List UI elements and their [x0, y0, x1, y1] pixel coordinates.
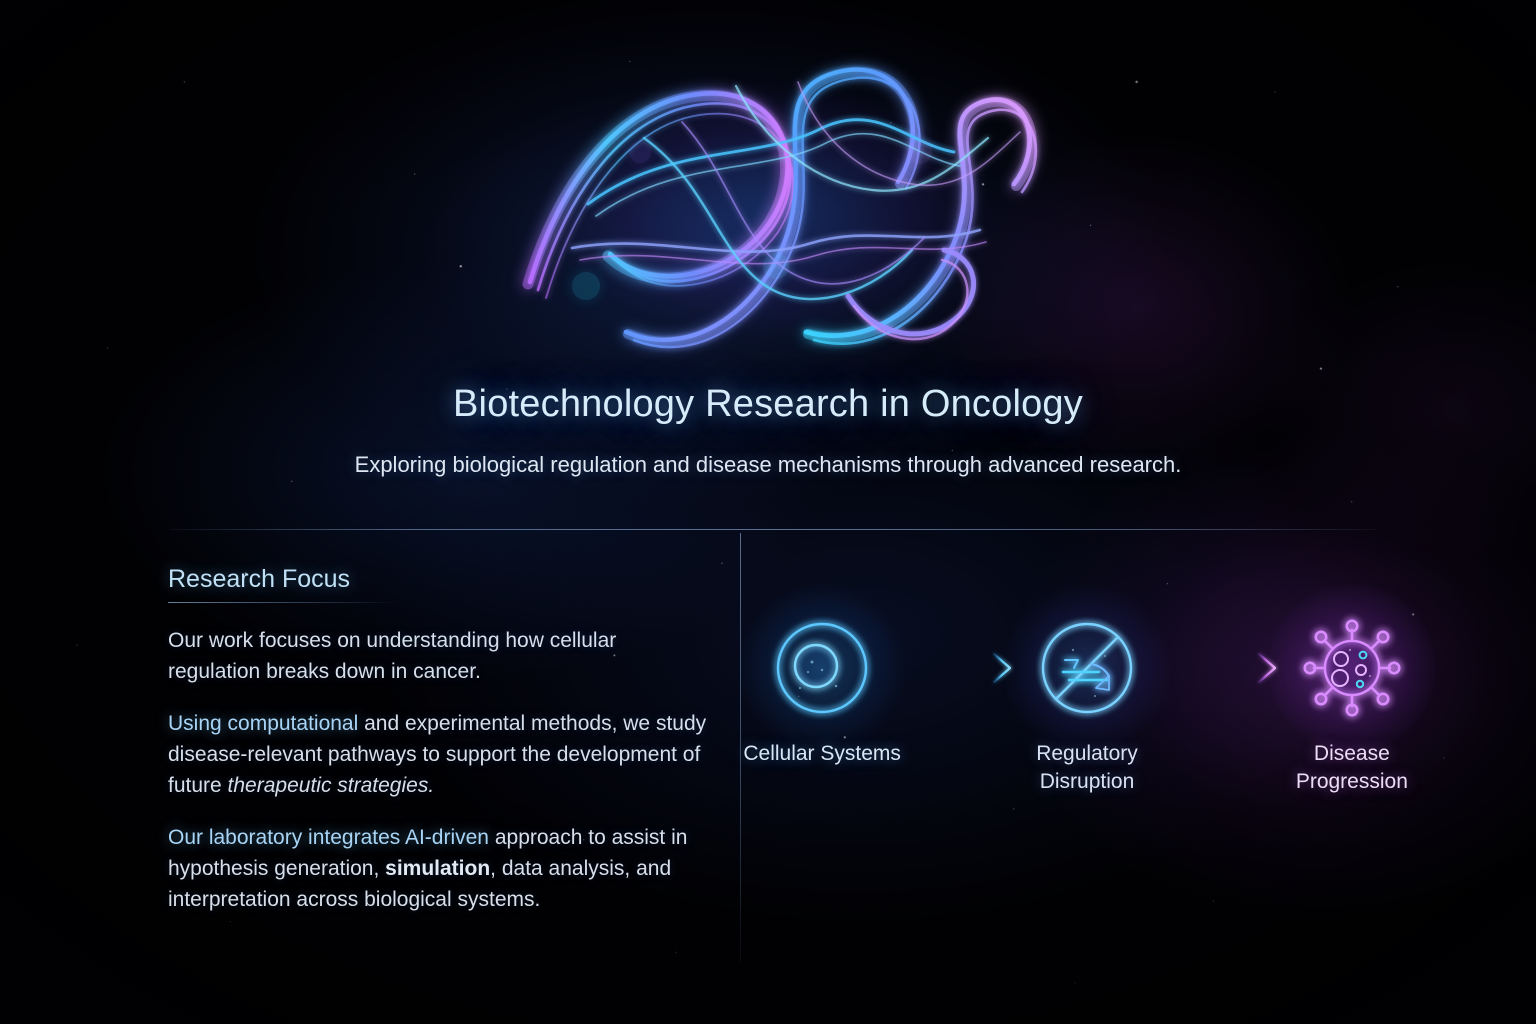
- poster-canvas: Biotechnology Research in Oncology Explo…: [0, 0, 1536, 1024]
- paragraph-1-segment-1: Our work focuses on understanding how ce…: [168, 629, 616, 683]
- node-label-cellular: Cellular Systems: [743, 740, 901, 768]
- virus-icon-wrap: [1294, 610, 1410, 726]
- node-disease-progression: Disease Progression: [1272, 610, 1432, 796]
- cell-icon-wrap: [764, 610, 880, 726]
- protein-ribbon-graphic: [468, 34, 1068, 384]
- research-focus-panel: Research Focus Our work focuses on under…: [168, 565, 728, 936]
- heading-underline: [168, 602, 398, 603]
- page-title: Biotechnology Research in Oncology: [0, 383, 1536, 426]
- protein-ribbon-icon: [468, 34, 1068, 384]
- node-cellular-systems: Cellular Systems: [742, 610, 902, 768]
- paragraph-3-segment-1: Our laboratory integrates AI-driven: [168, 826, 489, 849]
- arrow-cellular-to-regulatory: [902, 610, 1007, 726]
- disease-pathway-flow: Cellular Systems: [742, 610, 1432, 850]
- node-label-regulatory-line1: Regulatory: [1036, 740, 1138, 768]
- research-paragraph-1: Our work focuses on understanding how ce…: [168, 625, 713, 687]
- node-label-disease-line2: Progression: [1296, 768, 1408, 796]
- research-paragraph-3: Our laboratory integrates AI-driven appr…: [168, 822, 713, 915]
- disruption-block-icon: [1029, 610, 1145, 726]
- virus-icon: [1294, 610, 1410, 726]
- paragraph-2-segment-1: Using computational: [168, 712, 358, 735]
- vertical-divider: [740, 533, 741, 963]
- pathway-diagram-panel: Cellular Systems: [742, 560, 1432, 960]
- node-label-disease-line1: Disease: [1296, 740, 1408, 768]
- node-regulatory-disruption: Regulatory Disruption: [1007, 610, 1167, 796]
- arrow-regulatory-to-disease: [1167, 610, 1272, 726]
- research-paragraph-2: Using computational and experimental met…: [168, 708, 713, 801]
- paragraph-3-segment-3: simulation: [385, 857, 490, 880]
- node-label-regulatory: Regulatory Disruption: [1036, 740, 1138, 796]
- page-subtitle: Exploring biological regulation and dise…: [0, 452, 1536, 478]
- horizontal-divider: [170, 529, 1376, 530]
- arrow-right-icon: [902, 610, 1026, 726]
- research-focus-heading: Research Focus: [168, 565, 728, 594]
- cell-icon: [764, 610, 880, 726]
- disruption-icon-wrap: [1029, 610, 1145, 726]
- node-label-regulatory-line2: Disruption: [1036, 768, 1138, 796]
- paragraph-2-segment-3: therapeutic strategies.: [228, 774, 435, 797]
- node-label-disease: Disease Progression: [1296, 740, 1408, 796]
- arrow-right-icon: [1167, 610, 1291, 726]
